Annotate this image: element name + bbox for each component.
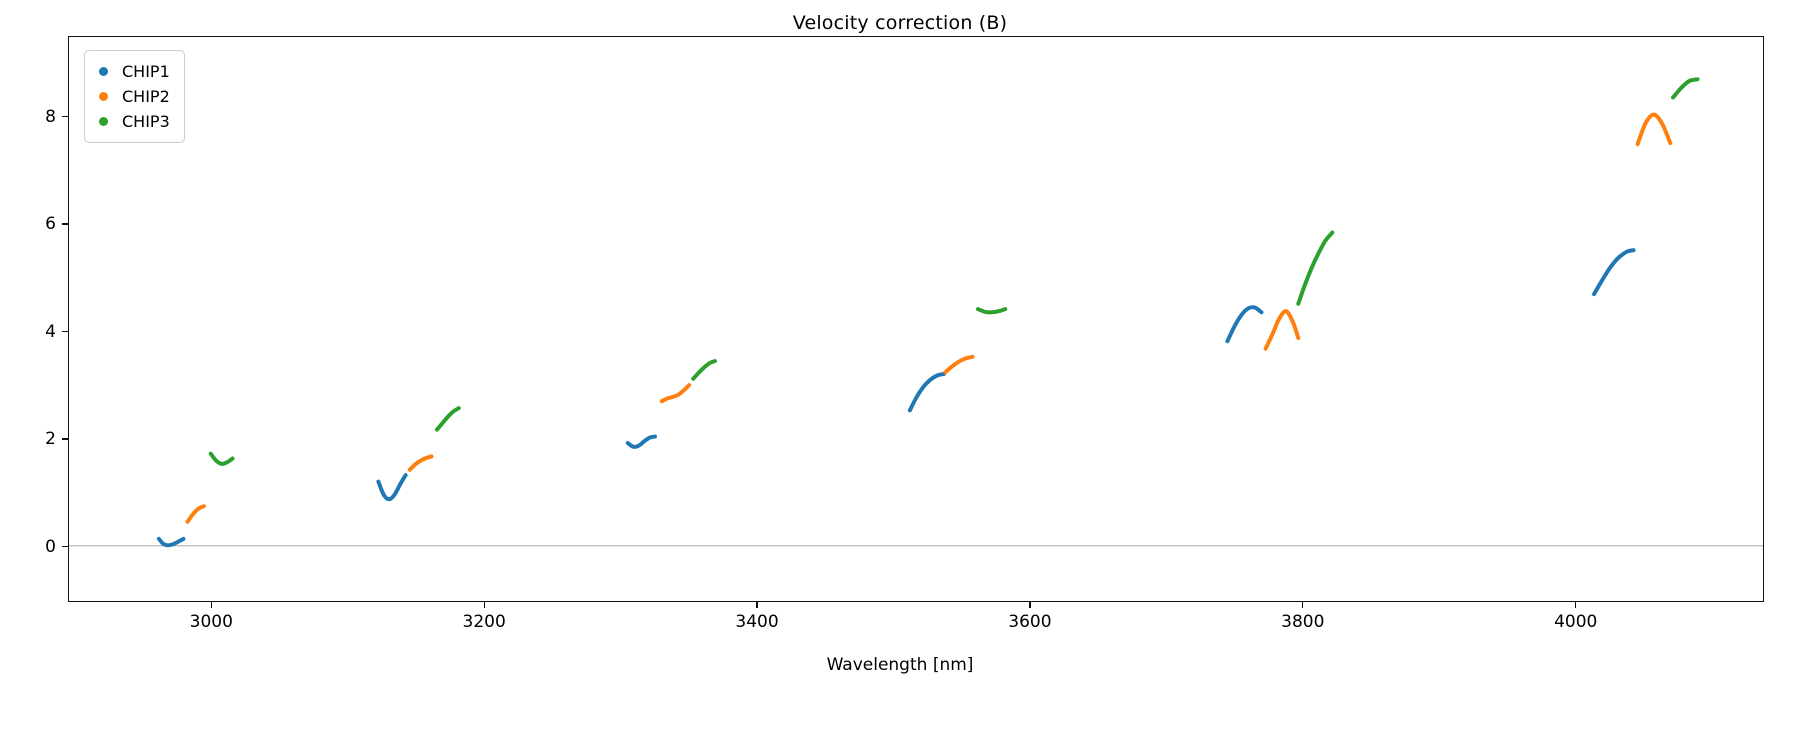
series-chip3: [211, 79, 1698, 464]
series-segment: [410, 456, 432, 469]
x-tick-mark: [211, 602, 212, 608]
series-segment: [1638, 115, 1671, 144]
series-segment: [1594, 250, 1634, 294]
legend-label-chip2: CHIP2: [122, 87, 170, 106]
y-tick-label: 8: [45, 107, 56, 127]
legend-item-chip2[interactable]: CHIP2: [95, 84, 170, 109]
plot-area: [68, 36, 1764, 602]
series-segment: [1673, 79, 1698, 97]
x-tick-label: 3600: [1008, 612, 1051, 632]
x-tick-mark: [484, 602, 485, 608]
legend-marker-chip1: [99, 67, 108, 76]
series-chip1: [159, 250, 1634, 545]
y-tick-mark: [62, 223, 68, 224]
legend-item-chip1[interactable]: CHIP1: [95, 59, 170, 84]
page-title: Velocity correction (B): [0, 12, 1800, 34]
x-tick-mark: [1302, 602, 1303, 608]
series-segment: [978, 309, 1005, 312]
x-tick-label: 3800: [1281, 612, 1324, 632]
y-tick-label: 0: [45, 537, 56, 557]
series-segment: [628, 437, 655, 447]
legend[interactable]: CHIP1 CHIP2 CHIP3: [84, 50, 185, 143]
x-tick-mark: [1029, 602, 1030, 608]
y-tick-label: 4: [45, 322, 56, 342]
series-chip2: [188, 115, 1671, 522]
x-tick-label: 4000: [1554, 612, 1597, 632]
y-tick-label: 6: [45, 214, 56, 234]
legend-marker-chip3: [99, 117, 108, 126]
series-segment: [211, 454, 233, 464]
x-tick-label: 3400: [735, 612, 778, 632]
x-tick-label: 3000: [190, 612, 233, 632]
series-segment: [378, 475, 405, 499]
y-tick-mark: [62, 116, 68, 117]
series-segment: [159, 539, 184, 545]
y-tick-label: 2: [45, 429, 56, 449]
series-segment: [945, 357, 972, 373]
series-segment: [188, 506, 204, 522]
x-tick-mark: [1575, 602, 1576, 608]
series-segment: [1298, 232, 1332, 303]
legend-label-chip3: CHIP3: [122, 112, 170, 131]
series-segment: [437, 408, 459, 429]
series-segment: [693, 361, 715, 379]
plot-svg: [69, 37, 1763, 601]
series-segment: [662, 385, 689, 401]
y-tick-mark: [62, 438, 68, 439]
figure-canvas: Velocity correction (B) dv (vipere - pip…: [0, 0, 1800, 750]
series-segment: [910, 374, 944, 410]
x-tick-label: 3200: [463, 612, 506, 632]
series-segment: [1266, 311, 1299, 349]
x-axis-label: Wavelength [nm]: [0, 655, 1800, 675]
series-segment: [1227, 307, 1261, 341]
legend-label-chip1: CHIP1: [122, 62, 170, 81]
x-tick-mark: [756, 602, 757, 608]
y-tick-mark: [62, 546, 68, 547]
y-tick-mark: [62, 331, 68, 332]
legend-item-chip3[interactable]: CHIP3: [95, 109, 170, 134]
legend-marker-chip2: [99, 92, 108, 101]
